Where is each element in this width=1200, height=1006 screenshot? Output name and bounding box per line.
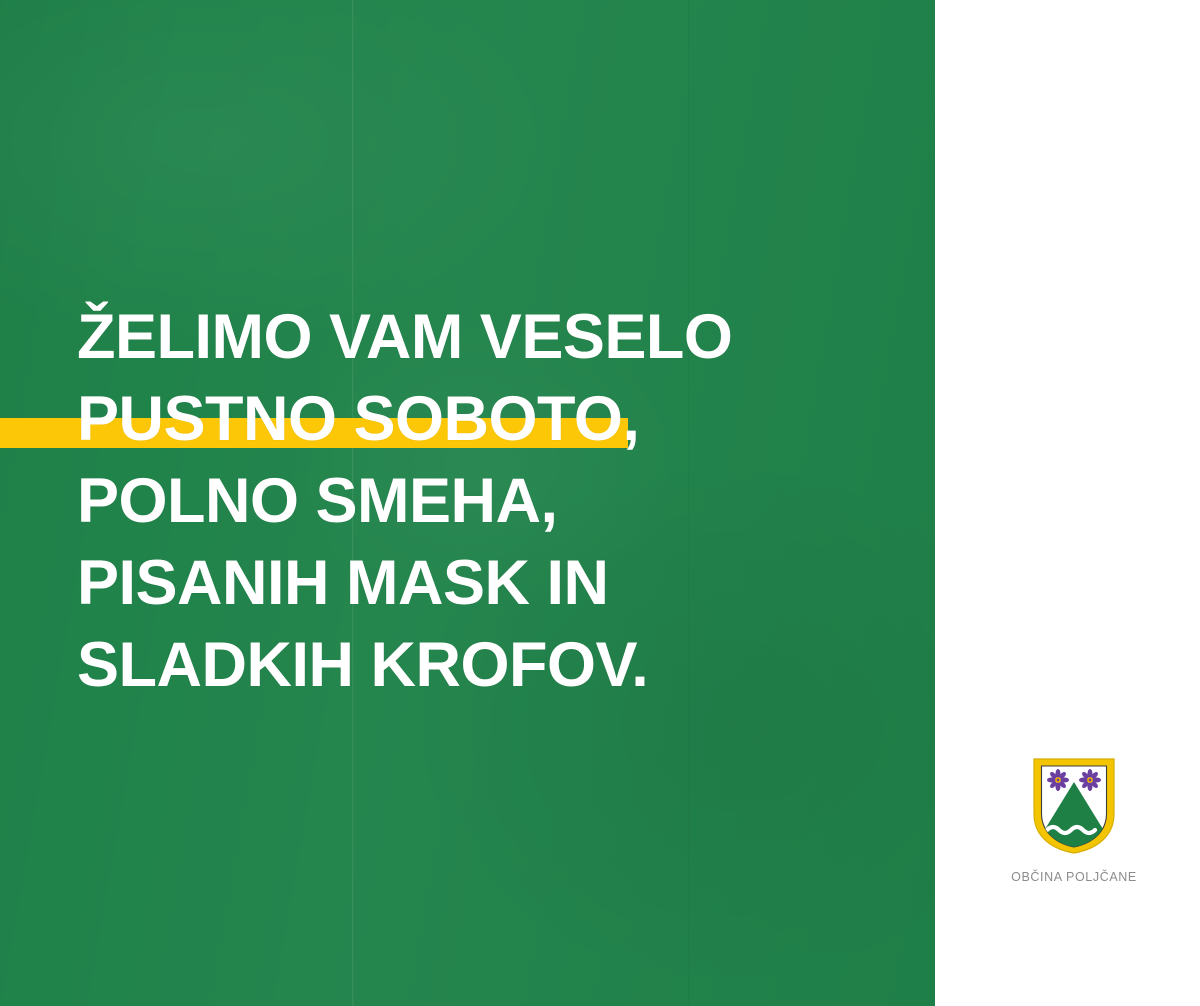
- headline-line-4: PISANIH MASK IN: [77, 542, 917, 624]
- coat-of-arms-icon: [1031, 756, 1117, 856]
- headline-block: ŽELIMO VAM VESELO PUSTNO SOBOTO, POLNO S…: [77, 296, 917, 706]
- poster-canvas: ŽELIMO VAM VESELO PUSTNO SOBOTO, POLNO S…: [0, 0, 1200, 1006]
- headline-line-5: SLADKIH KROFOV.: [77, 624, 917, 706]
- headline-line-3: POLNO SMEHA,: [77, 460, 917, 542]
- green-background-panel: ŽELIMO VAM VESELO PUSTNO SOBOTO, POLNO S…: [0, 0, 935, 1006]
- headline-line-2-highlighted: PUSTNO SOBOTO,: [77, 378, 917, 460]
- headline-line-1: ŽELIMO VAM VESELO: [77, 296, 917, 378]
- municipality-logo: OBČINA POLJČANE: [1000, 756, 1148, 884]
- municipality-name-label: OBČINA POLJČANE: [1000, 870, 1148, 884]
